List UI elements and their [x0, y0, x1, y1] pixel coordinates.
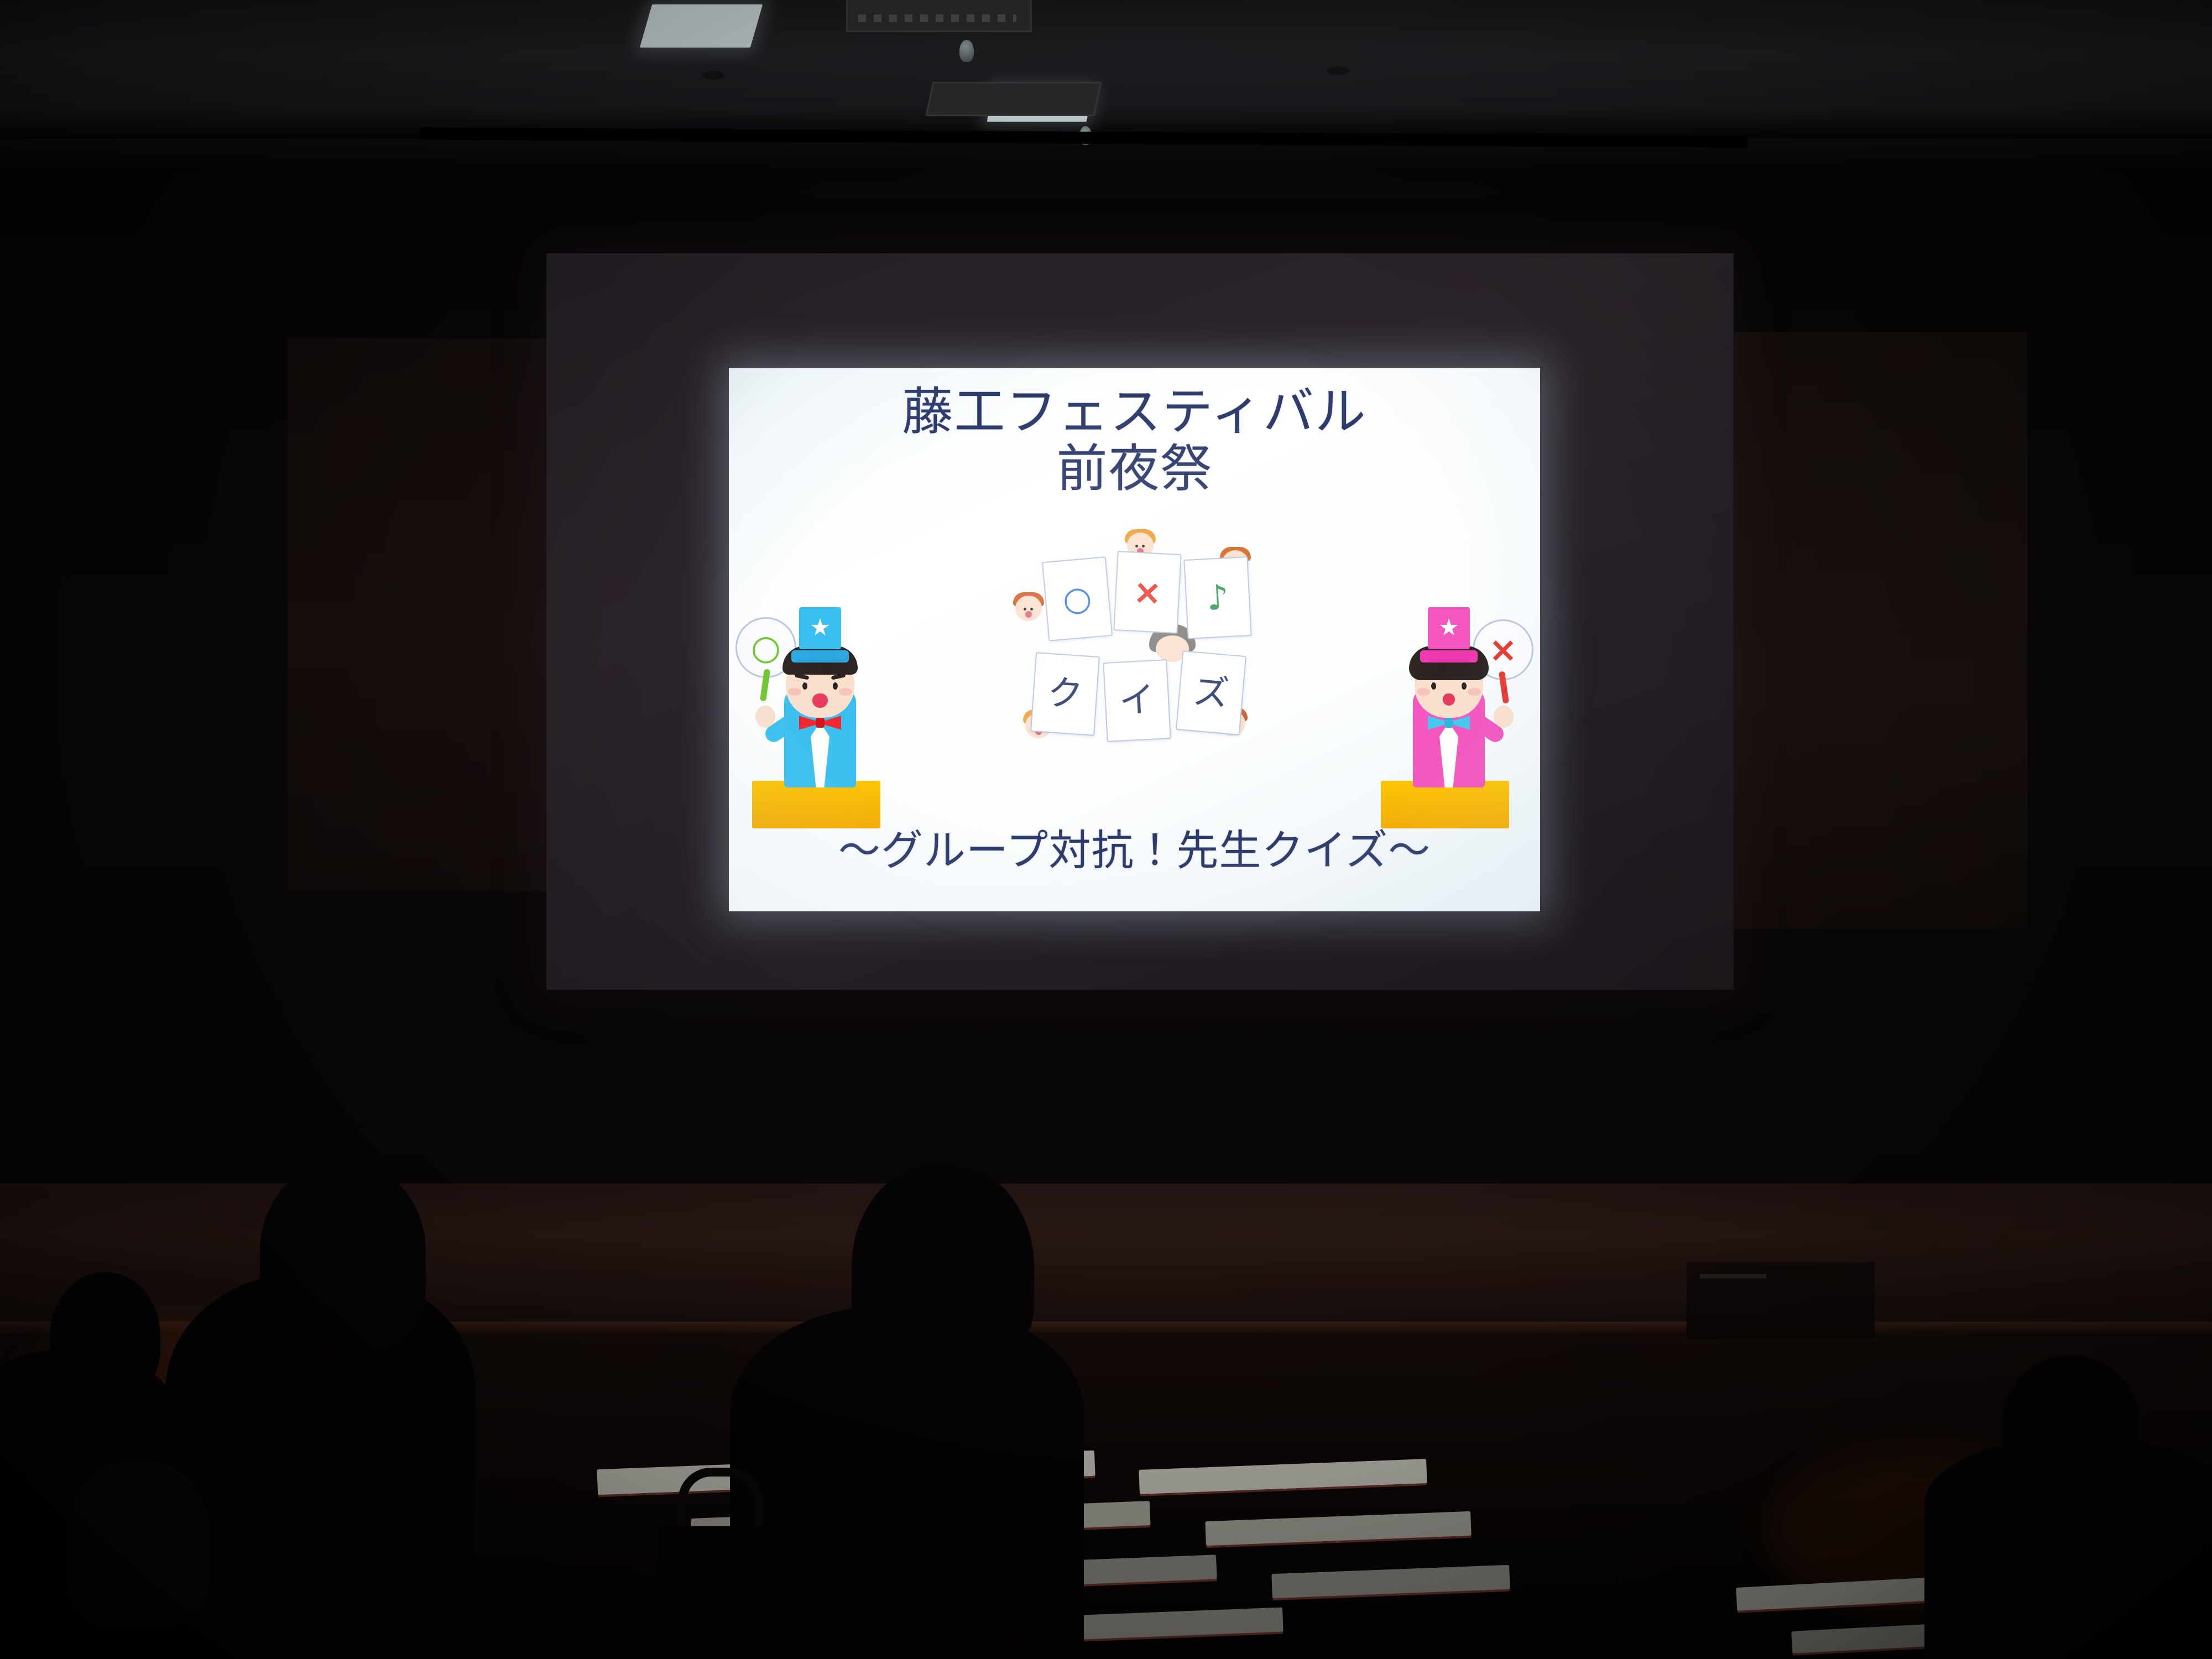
host-right-cheek-right — [1468, 688, 1481, 696]
kid-character-1 — [1013, 592, 1044, 623]
pendant-lamp — [959, 40, 974, 62]
host-right-eye-left — [1431, 682, 1436, 690]
kid-mouth — [1025, 611, 1032, 618]
bowtie-knot — [1444, 718, 1453, 728]
host-left-cheek-left — [788, 688, 801, 696]
auditorium-room: 藤工フェスティバル 前夜祭 — [0, 0, 2212, 1659]
host-left-eye-left — [802, 682, 807, 690]
maru-card: ○ — [1041, 556, 1112, 641]
host-right-tophat-icon — [1420, 607, 1478, 662]
ku-card: ク — [1030, 652, 1100, 736]
audience-head-3 — [852, 1161, 1034, 1371]
kid-eye-left — [1135, 545, 1138, 547]
ceiling-vent-2 — [925, 82, 1102, 116]
wall-panel-right — [1734, 332, 2027, 929]
host-left-eye-right — [833, 682, 838, 690]
audience-head-5 — [66, 1460, 210, 1626]
host-left-hand — [755, 706, 775, 728]
slide-title-line1: 藤工フェスティバル — [902, 382, 1366, 441]
ceiling-vent-slats-1 — [858, 14, 1016, 22]
host-right-cheek-left — [1417, 688, 1430, 696]
host-left-cheek-right — [839, 688, 852, 696]
tophat-brim — [1420, 650, 1478, 662]
note-card: ♪ — [1183, 556, 1251, 639]
slide-title: 藤工フェスティバル 前夜祭 — [729, 383, 1540, 497]
ceiling-speaker-right — [1327, 66, 1349, 75]
ceiling-light-panel-1 — [640, 4, 763, 48]
handbag — [656, 1526, 766, 1637]
equipment-led-strip — [1700, 1274, 1766, 1279]
zu-card: ズ — [1175, 650, 1246, 735]
presentation-slide: 藤工フェスティバル 前夜祭 — [729, 368, 1540, 911]
host-left-mouth — [812, 693, 828, 708]
audience-head-4 — [2002, 1355, 2140, 1493]
ceiling — [0, 0, 2212, 138]
batsu-card: × — [1113, 551, 1181, 634]
host-right-character: × — [1374, 607, 1524, 828]
ceiling-speaker-left — [702, 71, 724, 80]
slide-title-line2: 前夜祭 — [729, 440, 1540, 497]
audience-head-1 — [50, 1272, 160, 1399]
quiz-cards-illustration: ○ × ♪ ク イ ズ — [997, 544, 1273, 743]
kid-face — [1015, 596, 1042, 621]
wall-panel-left — [288, 338, 547, 891]
kid-eye-right — [1142, 545, 1145, 547]
stage-equipment-box — [1687, 1261, 1875, 1339]
kid-eye-left — [1024, 608, 1026, 611]
bowtie-knot — [816, 718, 825, 728]
tophat-brim — [791, 650, 849, 662]
host-left-character: ○ — [745, 607, 895, 828]
host-right-hand — [1494, 706, 1514, 728]
host-right-mouth — [1443, 693, 1455, 706]
i-card: イ — [1103, 659, 1171, 742]
host-left-tophat-icon — [791, 607, 849, 662]
slide-subtitle: 〜グループ対抗！先生クイズ〜 — [729, 816, 1540, 877]
audience-head-2 — [260, 1161, 426, 1349]
kid-eye-right — [1030, 608, 1033, 611]
host-right-eye-right — [1462, 682, 1467, 690]
